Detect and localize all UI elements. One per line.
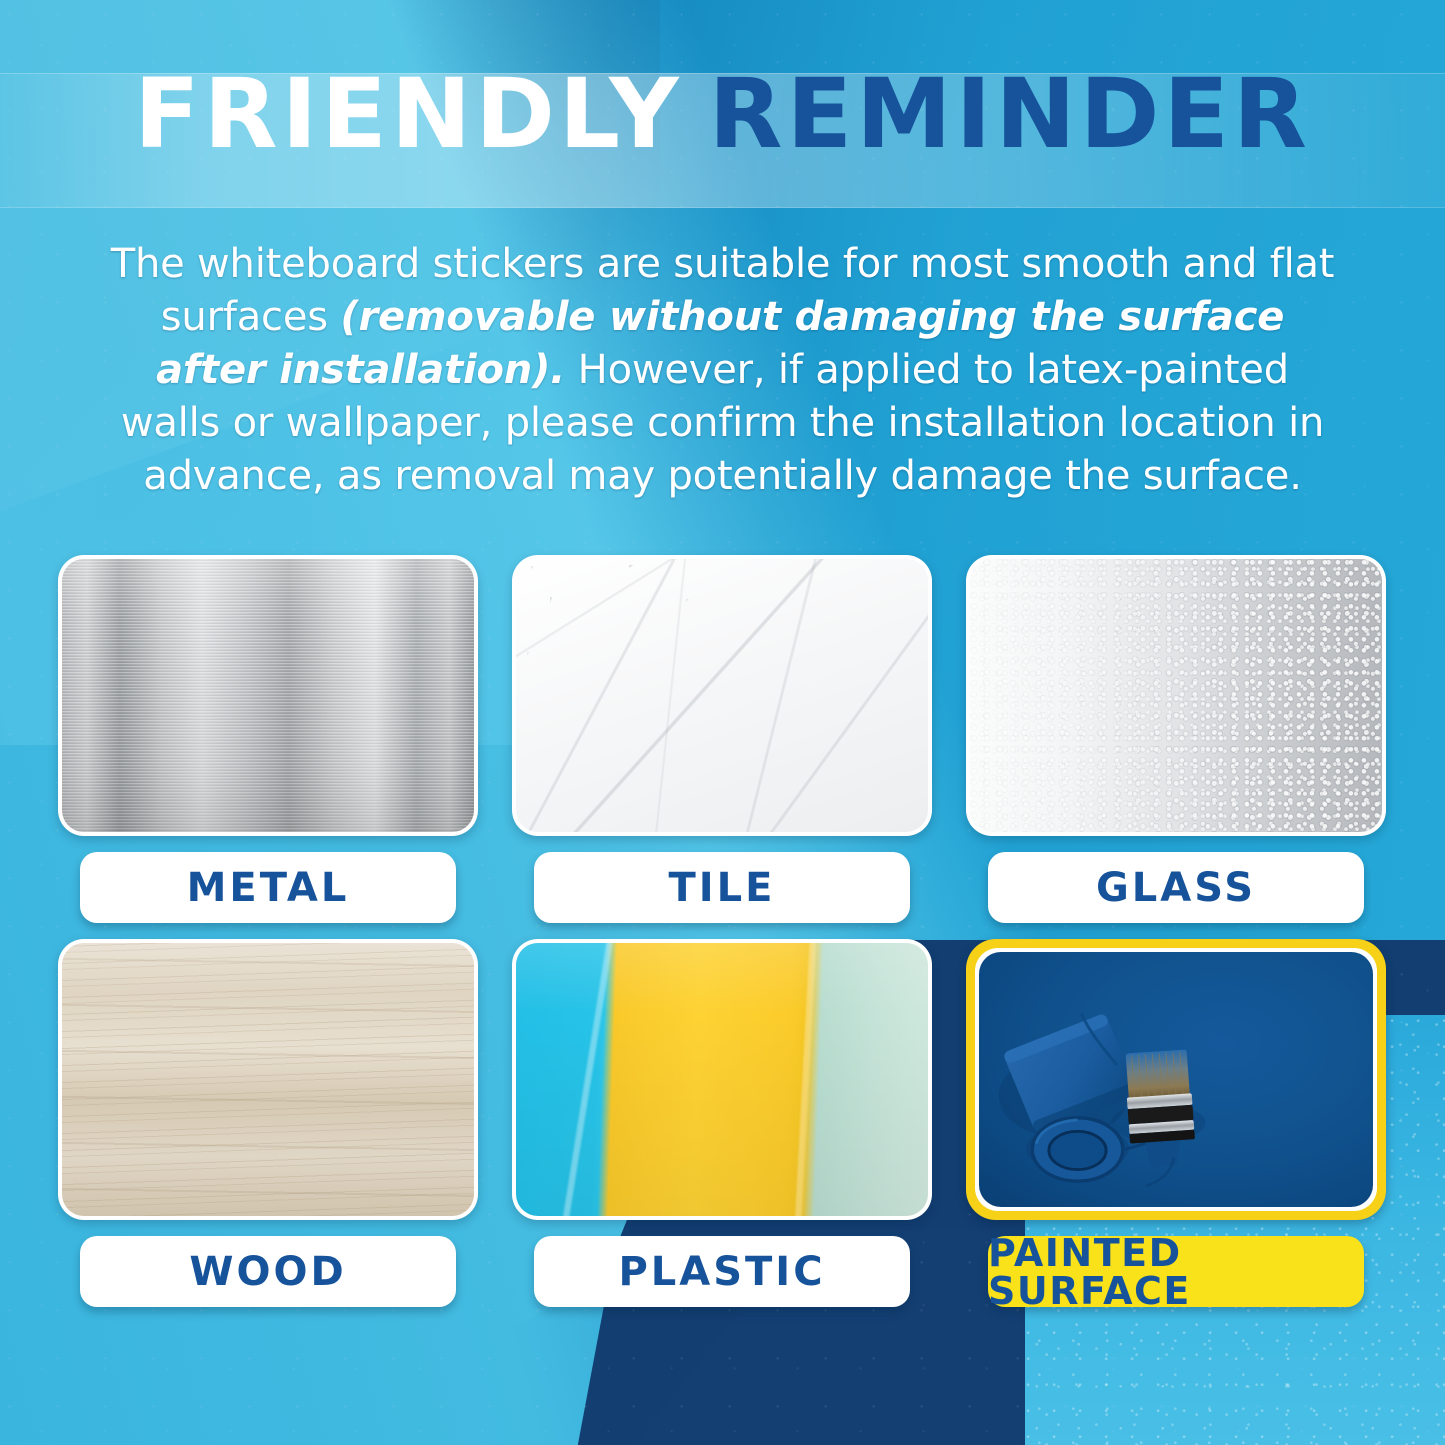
- label-pill-plastic[interactable]: PLASTIC: [534, 1236, 910, 1307]
- plastic-swatch-card[interactable]: [512, 939, 932, 1220]
- surface-cell-metal[interactable]: METAL: [58, 555, 478, 923]
- title-word-friendly: FRIENDLY: [134, 66, 683, 162]
- surface-cell-painted-surface[interactable]: PAINTED SURFACE: [966, 939, 1386, 1307]
- label-text-tile: TILE: [669, 868, 776, 908]
- surface-cell-wood[interactable]: WOOD: [58, 939, 478, 1307]
- light-oak-wood-texture: [62, 943, 474, 1216]
- label-text-metal: METAL: [187, 868, 350, 908]
- label-pill-tile[interactable]: TILE: [534, 852, 910, 923]
- surface-cell-tile[interactable]: TILE: [512, 555, 932, 923]
- surface-swatch-grid: METAL TILE: [58, 555, 1388, 1323]
- marble-tile-texture: [516, 559, 928, 832]
- glass-swatch-image: [970, 559, 1382, 832]
- label-pill-metal[interactable]: METAL: [80, 852, 456, 923]
- painted-surface-swatch-card[interactable]: [966, 939, 1386, 1220]
- label-pill-wood[interactable]: WOOD: [80, 1236, 456, 1307]
- page-title: FRIENDLYREMINDER: [0, 66, 1445, 162]
- paint-tools-illustration: [979, 952, 1373, 1207]
- label-text-plastic: PLASTIC: [618, 1252, 825, 1292]
- surface-cell-glass[interactable]: GLASS: [966, 555, 1386, 923]
- colored-plastic-texture: [516, 943, 928, 1216]
- metal-swatch-card[interactable]: [58, 555, 478, 836]
- surface-cell-plastic[interactable]: PLASTIC: [512, 939, 932, 1307]
- label-text-glass: GLASS: [1096, 868, 1256, 908]
- wood-swatch-card[interactable]: [58, 939, 478, 1220]
- plastic-swatch-image: [516, 943, 928, 1216]
- title-word-reminder: REMINDER: [709, 66, 1311, 162]
- tile-swatch-card[interactable]: [512, 555, 932, 836]
- painted-surface-white-ring: [975, 948, 1377, 1211]
- surface-row-top: METAL TILE: [58, 555, 1388, 923]
- tile-swatch-image: [516, 559, 928, 832]
- label-text-painted-surface: PAINTED SURFACE: [988, 1234, 1364, 1310]
- wood-swatch-image: [62, 943, 474, 1216]
- metal-swatch-image: [62, 559, 474, 832]
- brushed-metal-texture: [62, 559, 474, 832]
- friendly-reminder-poster: FRIENDLYREMINDER The whiteboard stickers…: [0, 0, 1445, 1445]
- instruction-paragraph: The whiteboard stickers are suitable for…: [110, 238, 1335, 503]
- painted-surface-swatch-image: [979, 952, 1373, 1207]
- label-pill-painted-surface[interactable]: PAINTED SURFACE: [988, 1236, 1364, 1307]
- label-text-wood: WOOD: [189, 1252, 346, 1292]
- glass-swatch-card[interactable]: [966, 555, 1386, 836]
- painted-wall-texture: [979, 952, 1373, 1207]
- label-pill-glass[interactable]: GLASS: [988, 852, 1364, 923]
- surface-row-bottom: WOOD PLASTIC: [58, 939, 1388, 1307]
- frosted-glass-texture: [970, 559, 1382, 832]
